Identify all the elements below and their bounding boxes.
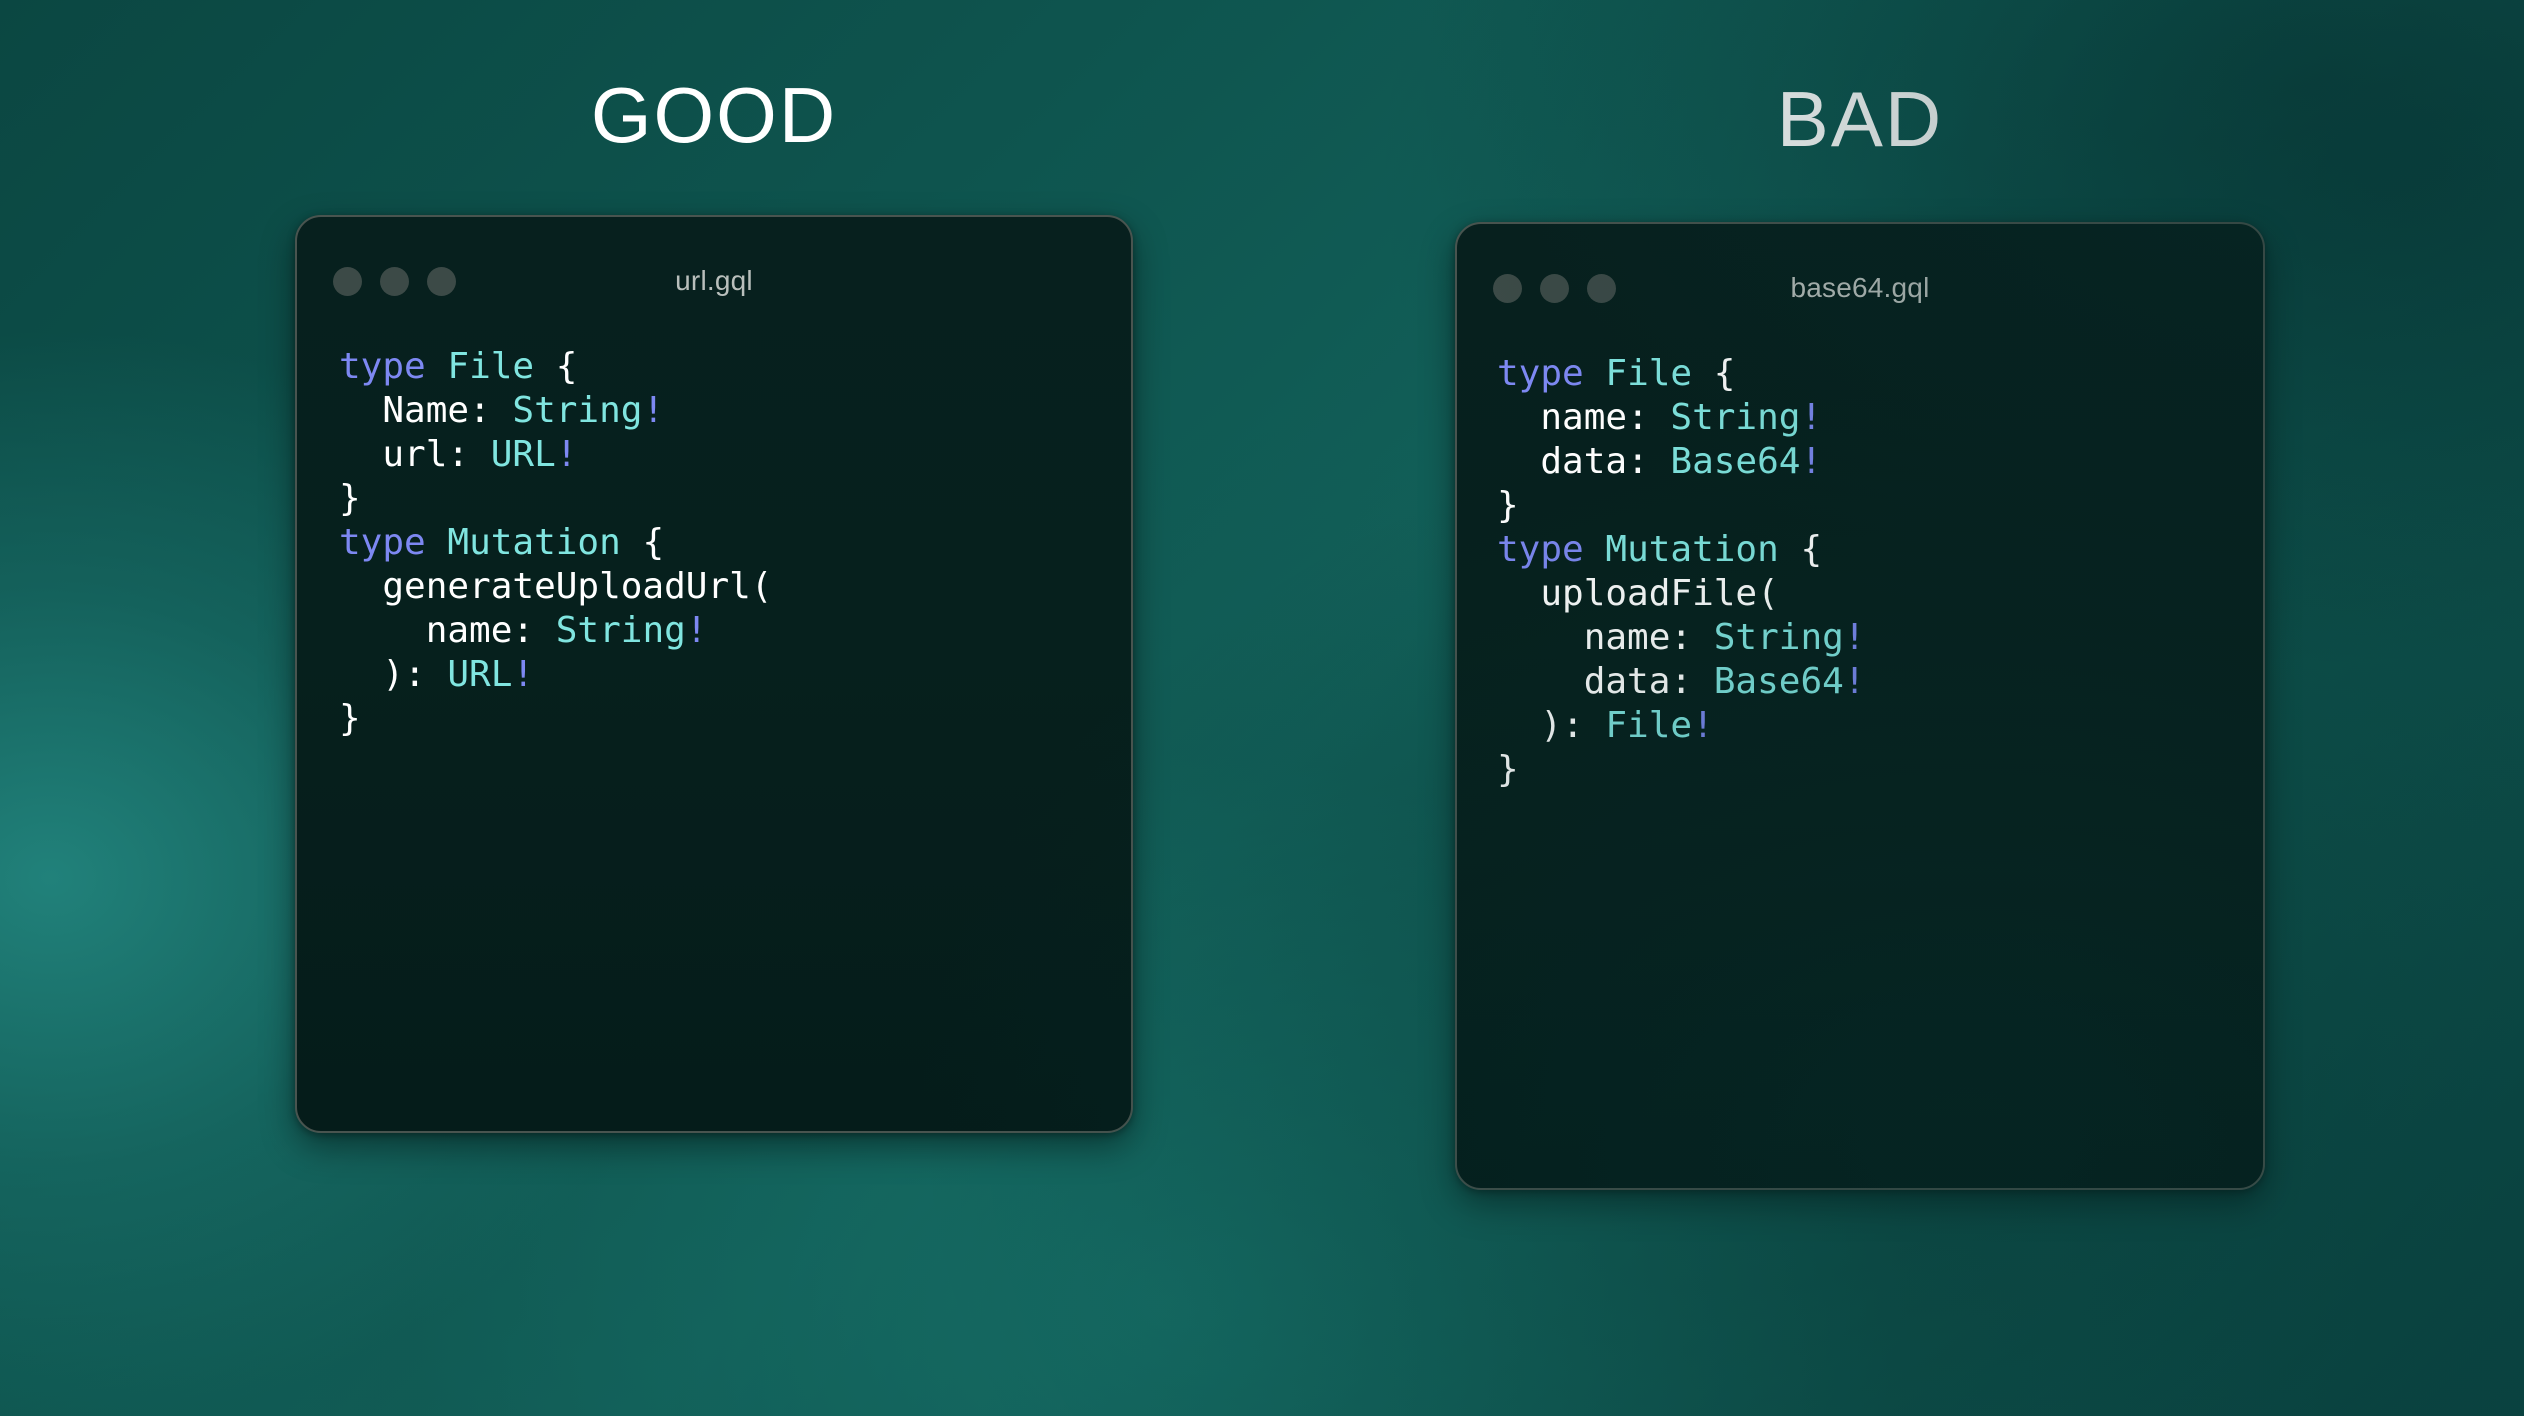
window-dot-maximize-icon[interactable] <box>427 267 456 296</box>
code-token-bang: ! <box>686 610 708 651</box>
code-token-type: Mutation <box>1605 529 1778 570</box>
code-token-type: String <box>1670 397 1800 438</box>
code-token-punc <box>1584 353 1606 394</box>
code-token-punc: : <box>1627 441 1670 482</box>
code-token-type: String <box>512 390 642 431</box>
code-token-bang: ! <box>1844 661 1866 702</box>
code-token-type: Base64 <box>1670 441 1800 482</box>
code-window-bad: base64.gql type File { name: String! dat… <box>1455 222 2265 1190</box>
code-line: Name: String! <box>339 389 1131 433</box>
code-token-bang: ! <box>1692 705 1714 746</box>
code-token-name: data <box>1497 441 1627 482</box>
code-token-punc: } <box>339 698 361 739</box>
window-titlebar-bad: base64.gql <box>1457 224 2263 334</box>
code-token-type: URL <box>491 434 556 475</box>
code-window-good: url.gql type File { Name: String! url: U… <box>295 215 1133 1133</box>
window-traffic-lights-good <box>333 267 456 296</box>
code-token-punc: { <box>1692 353 1735 394</box>
code-token-kw: type <box>1497 529 1584 570</box>
code-line: url: URL! <box>339 433 1131 477</box>
code-token-punc: : <box>447 434 490 475</box>
code-token-punc: } <box>339 478 361 519</box>
code-token-punc: : <box>469 390 512 431</box>
code-token-bang: ! <box>512 654 534 695</box>
code-token-bang: ! <box>1800 397 1822 438</box>
comparison-slide: GOOD BAD url.gql type File { Name: Strin… <box>0 0 2524 1416</box>
code-token-name: name <box>339 610 512 651</box>
window-dot-minimize-icon[interactable] <box>380 267 409 296</box>
code-block-good: type File { Name: String! url: URL!}type… <box>297 327 1131 741</box>
code-token-type: String <box>556 610 686 651</box>
code-line: data: Base64! <box>1497 440 2263 484</box>
code-token-bang: ! <box>1800 441 1822 482</box>
code-line: uploadFile( <box>1497 572 2263 616</box>
code-line: } <box>1497 484 2263 528</box>
panel-good: GOOD <box>295 0 1133 154</box>
code-token-type: Base64 <box>1714 661 1844 702</box>
code-line: name: String! <box>1497 396 2263 440</box>
code-token-punc: } <box>1497 485 1519 526</box>
code-token-type: File <box>1605 353 1692 394</box>
code-token-bang: ! <box>1844 617 1866 658</box>
code-token-type: File <box>1605 705 1692 746</box>
code-token-punc <box>426 522 448 563</box>
code-token-name: url <box>339 434 447 475</box>
code-token-name: name <box>1497 617 1670 658</box>
panel-title-bad: BAD <box>1777 80 1943 158</box>
code-line: type Mutation { <box>339 521 1131 565</box>
code-token-name: uploadFile( <box>1497 573 1779 614</box>
panel-title-good: GOOD <box>591 76 837 154</box>
code-line: data: Base64! <box>1497 660 2263 704</box>
code-token-punc: : <box>1670 617 1713 658</box>
code-token-punc: { <box>621 522 664 563</box>
code-line: } <box>1497 748 2263 792</box>
code-token-name: name <box>1497 397 1627 438</box>
window-dot-close-icon[interactable] <box>1493 274 1522 303</box>
code-token-type: String <box>1714 617 1844 658</box>
window-dot-close-icon[interactable] <box>333 267 362 296</box>
code-line: ): URL! <box>339 653 1131 697</box>
code-token-punc: : <box>1670 661 1713 702</box>
code-line: name: String! <box>339 609 1131 653</box>
code-line: type File { <box>1497 352 2263 396</box>
window-traffic-lights-bad <box>1493 274 1616 303</box>
code-token-punc: : <box>1627 397 1670 438</box>
code-token-punc: { <box>1779 529 1822 570</box>
code-token-name: Name <box>339 390 469 431</box>
code-block-bad: type File { name: String! data: Base64!}… <box>1457 334 2263 792</box>
code-line: } <box>339 477 1131 521</box>
window-dot-maximize-icon[interactable] <box>1587 274 1616 303</box>
code-token-punc: : <box>512 610 555 651</box>
code-line: generateUploadUrl( <box>339 565 1131 609</box>
code-token-type: URL <box>447 654 512 695</box>
code-token-name: generateUploadUrl( <box>339 566 772 607</box>
panel-bad: BAD <box>1455 0 2265 158</box>
code-token-type: Mutation <box>447 522 620 563</box>
code-token-kw: type <box>339 522 426 563</box>
code-token-punc <box>1584 529 1606 570</box>
code-line: } <box>339 697 1131 741</box>
code-token-punc: } <box>1497 749 1519 790</box>
code-token-bang: ! <box>556 434 578 475</box>
code-token-punc <box>426 346 448 387</box>
code-token-name: data <box>1497 661 1670 702</box>
code-line: type Mutation { <box>1497 528 2263 572</box>
code-token-kw: type <box>339 346 426 387</box>
code-token-punc: ): <box>339 654 447 695</box>
code-token-punc: { <box>534 346 577 387</box>
code-token-kw: type <box>1497 353 1584 394</box>
window-dot-minimize-icon[interactable] <box>1540 274 1569 303</box>
code-token-type: File <box>447 346 534 387</box>
code-token-punc: ): <box>1497 705 1605 746</box>
code-line: name: String! <box>1497 616 2263 660</box>
window-titlebar-good: url.gql <box>297 217 1131 327</box>
code-token-bang: ! <box>642 390 664 431</box>
code-line: ): File! <box>1497 704 2263 748</box>
code-line: type File { <box>339 345 1131 389</box>
